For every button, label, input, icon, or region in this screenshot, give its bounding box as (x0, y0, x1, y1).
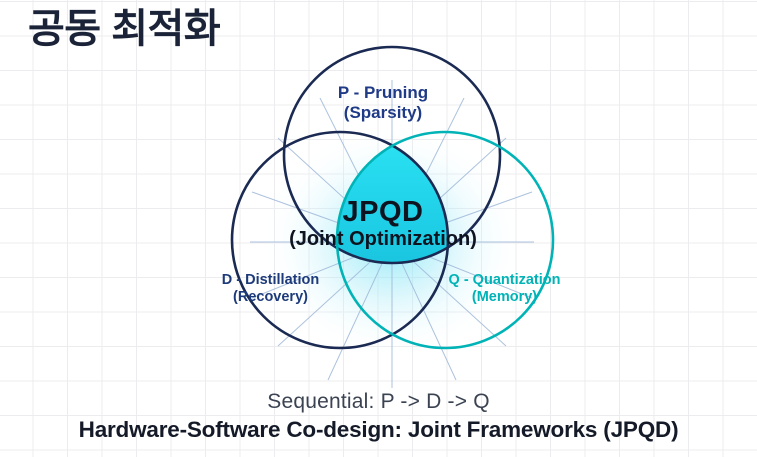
sequential-note: Sequential: P -> D -> Q (0, 390, 757, 414)
slide-canvas: 공동 최적화 (0, 0, 757, 457)
venn-diagram (150, 20, 610, 390)
slide-caption: Hardware-Software Co-design: Joint Frame… (0, 417, 757, 443)
sequential-note-text: Sequential: P -> D -> Q (249, 390, 508, 414)
venn-svg (150, 20, 610, 390)
